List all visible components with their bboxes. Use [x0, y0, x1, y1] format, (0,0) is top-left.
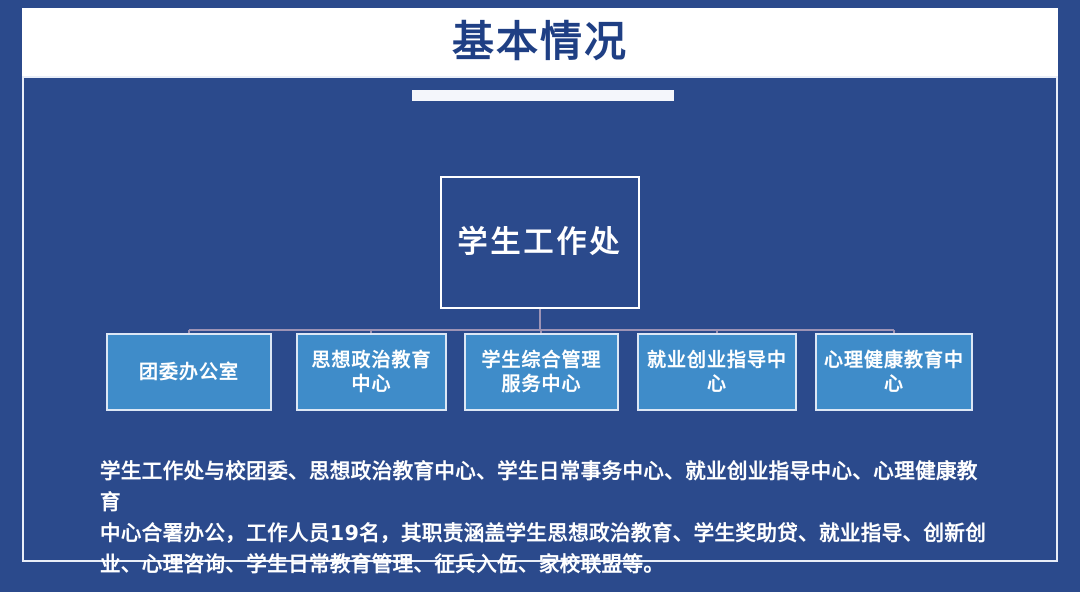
- org-node-child-1[interactable]: 思想政治教育中心: [296, 333, 447, 411]
- org-node-children-row: 团委办公室 思想政治教育中心 学生综合管理服务中心 就业创业指导中心 心理健康教…: [24, 333, 1056, 411]
- org-chart: 学生工作处 团委办公室 思想政治教育中心 学生综合管理服务中心 就业创业指导中心…: [24, 78, 1056, 438]
- org-node-child-0-label: 团委办公室: [139, 360, 239, 384]
- org-node-child-3-label: 就业创业指导中心: [645, 348, 789, 397]
- description-paragraph: 学生工作处与校团委、思想政治教育中心、学生日常事务中心、就业创业指导中心、心理健…: [100, 456, 990, 581]
- org-node-root[interactable]: 学生工作处: [440, 176, 640, 309]
- description-line-2: 中心合署办公，工作人员19名，其职责涵盖学生思想政治教育、学生奖助贷、就业指导、…: [100, 518, 990, 549]
- page-title: 基本情况: [22, 8, 1058, 76]
- org-node-child-4-label: 心理健康教育中心: [823, 348, 965, 397]
- org-node-child-3[interactable]: 就业创业指导中心: [637, 333, 797, 411]
- org-node-child-4[interactable]: 心理健康教育中心: [815, 333, 973, 411]
- title-band: 基本情况: [22, 8, 1058, 76]
- description-line-3: 业、心理咨询、学生日常教育管理、征兵入伍、家校联盟等。: [100, 549, 990, 580]
- content-panel: 学生工作处 团委办公室 思想政治教育中心 学生综合管理服务中心 就业创业指导中心…: [22, 76, 1058, 562]
- slide-canvas: 基本情况 学生工作处 团委办公室: [0, 0, 1080, 592]
- org-node-child-2[interactable]: 学生综合管理服务中心: [464, 333, 619, 411]
- org-node-child-2-label: 学生综合管理服务中心: [472, 348, 611, 397]
- description-line-1: 学生工作处与校团委、思想政治教育中心、学生日常事务中心、就业创业指导中心、心理健…: [100, 456, 990, 518]
- org-node-child-0[interactable]: 团委办公室: [106, 333, 272, 411]
- org-node-root-label: 学生工作处: [458, 225, 623, 261]
- org-node-child-1-label: 思想政治教育中心: [304, 348, 439, 397]
